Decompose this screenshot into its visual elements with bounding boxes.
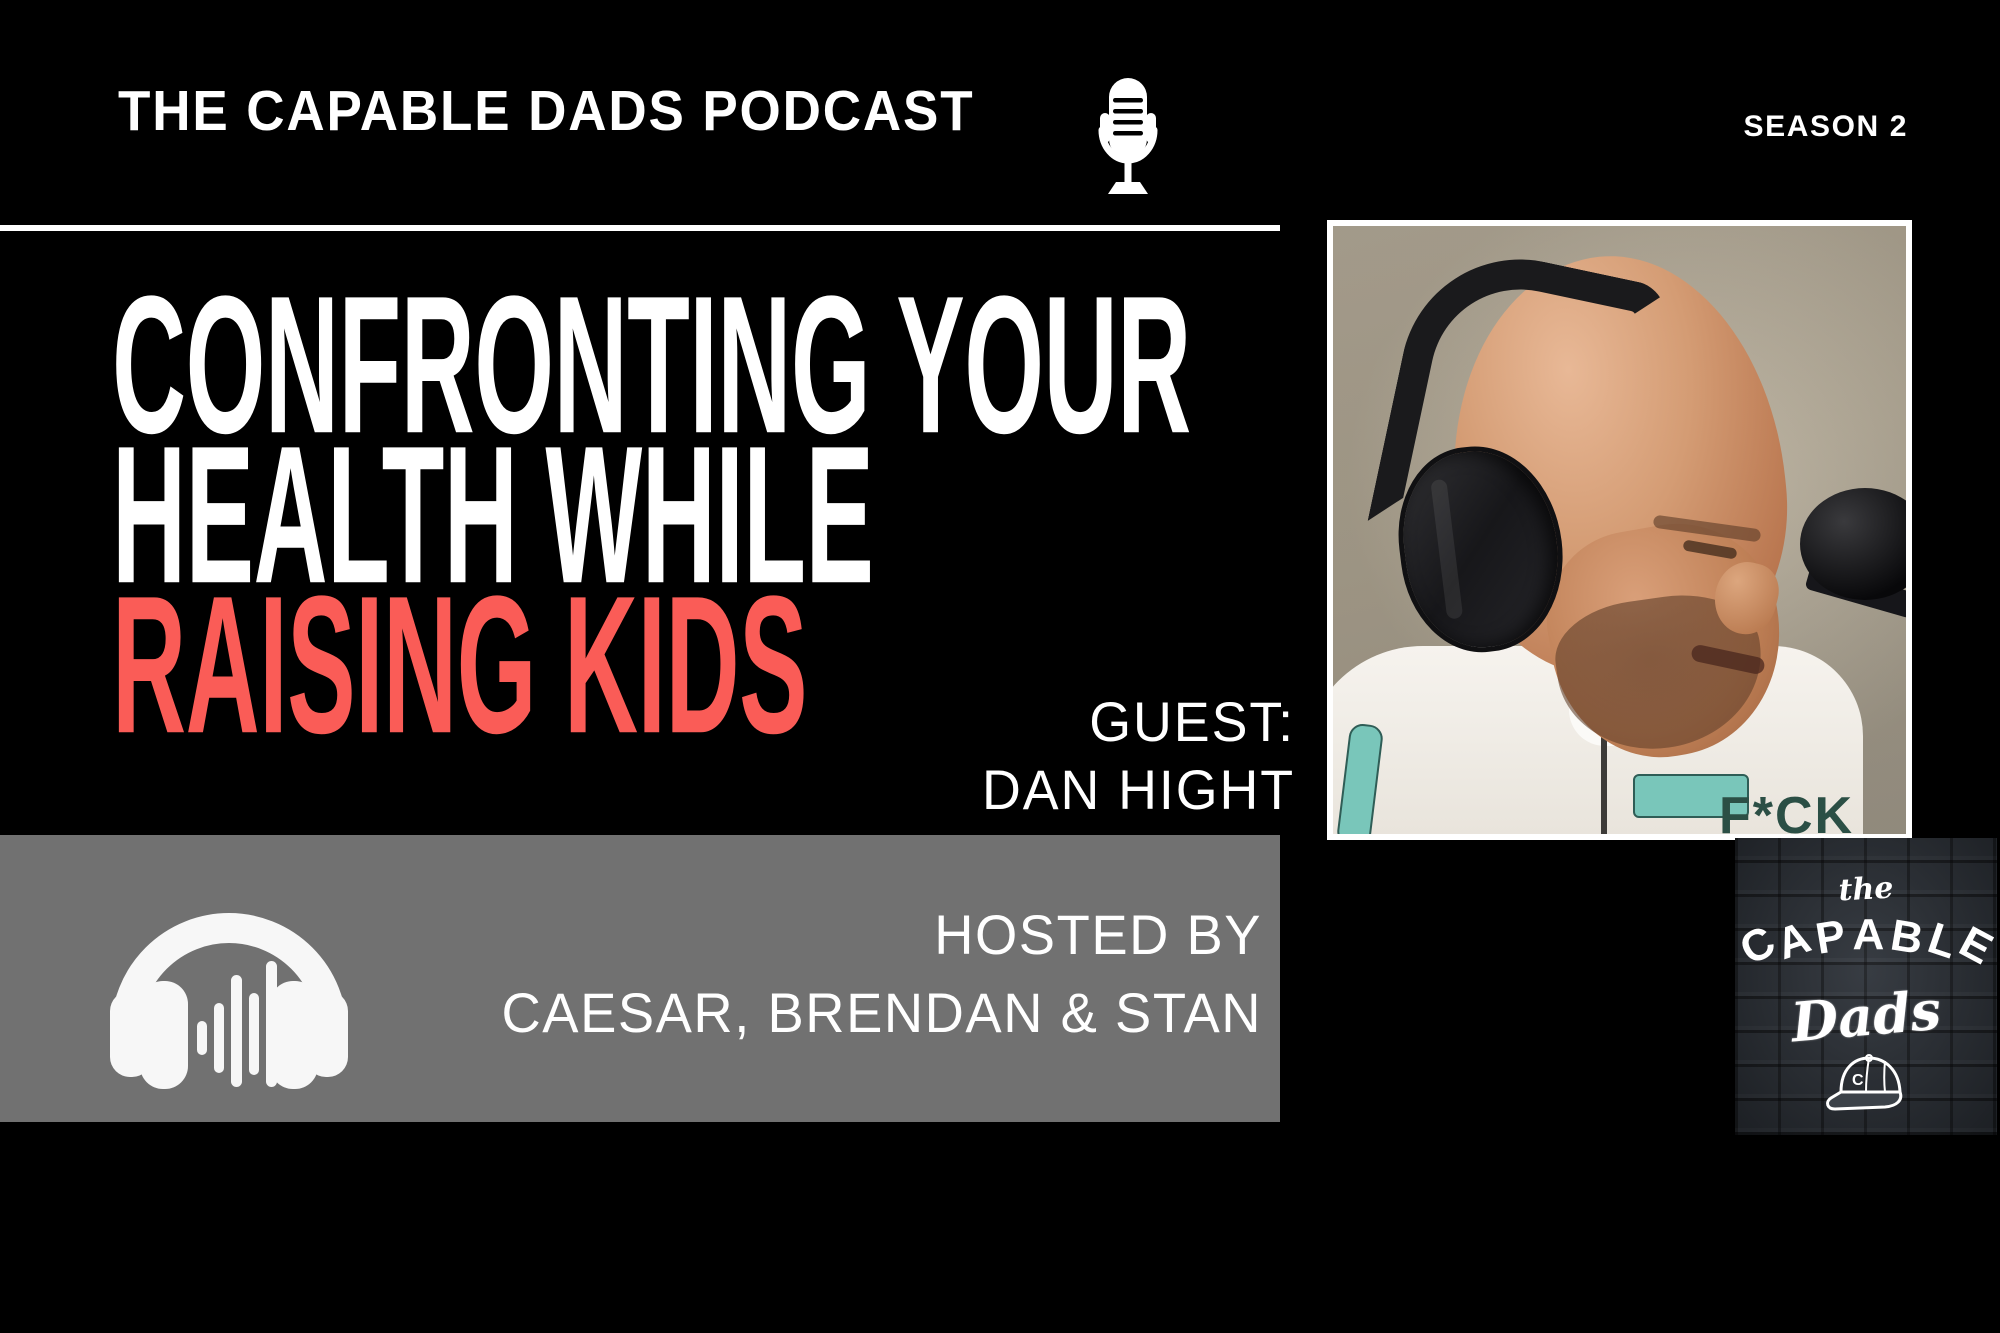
host-credit-bar: HOSTED BY CAESAR, BRENDAN & STAN xyxy=(0,835,1280,1122)
host-names: HOSTED BY CAESAR, BRENDAN & STAN xyxy=(478,897,1262,1053)
podcast-episode-cover: THE CAPABLE DADS PODCAST S xyxy=(0,0,2000,1333)
cap-monogram: C xyxy=(1852,1072,1864,1089)
headphones-waveform-icon xyxy=(100,863,358,1091)
title-line-3-accent: RAISING KIDS xyxy=(112,586,767,745)
vintage-microphone-icon xyxy=(1078,72,1178,202)
guest-photo: F*CK xyxy=(1333,226,1906,834)
page-title: THE CAPABLE DADS PODCAST xyxy=(118,78,975,144)
header-divider xyxy=(0,225,1280,231)
season-badge: SEASON 2 xyxy=(1743,110,1908,144)
logo-capable-letter: P xyxy=(1812,911,1849,965)
guest-photo-frame: F*CK xyxy=(1327,220,1912,840)
brand-logo[interactable]: the CAPABLE Dads C xyxy=(1735,838,1997,1135)
logo-capable-letter: B xyxy=(1887,911,1926,965)
logo-capable-arch: CAPABLE xyxy=(1735,910,1997,974)
guest-credit: GUEST: DAN HIGHT xyxy=(969,688,1295,824)
hosted-by-label: HOSTED BY xyxy=(501,897,1262,973)
logo-capable-letter: A xyxy=(1853,910,1885,960)
host-names-list: CAESAR, BRENDAN & STAN xyxy=(501,973,1262,1053)
baseball-cap-icon: C xyxy=(1811,1052,1921,1114)
header: THE CAPABLE DADS PODCAST S xyxy=(0,0,2000,227)
episode-title: CONFRONTING YOUR HEALTH WHILE RAISING KI… xyxy=(112,286,1292,736)
guest-name: DAN HIGHT xyxy=(982,756,1295,824)
jacket-graphic-text: F*CK xyxy=(1719,786,1906,834)
guest-label: GUEST: xyxy=(982,688,1295,756)
